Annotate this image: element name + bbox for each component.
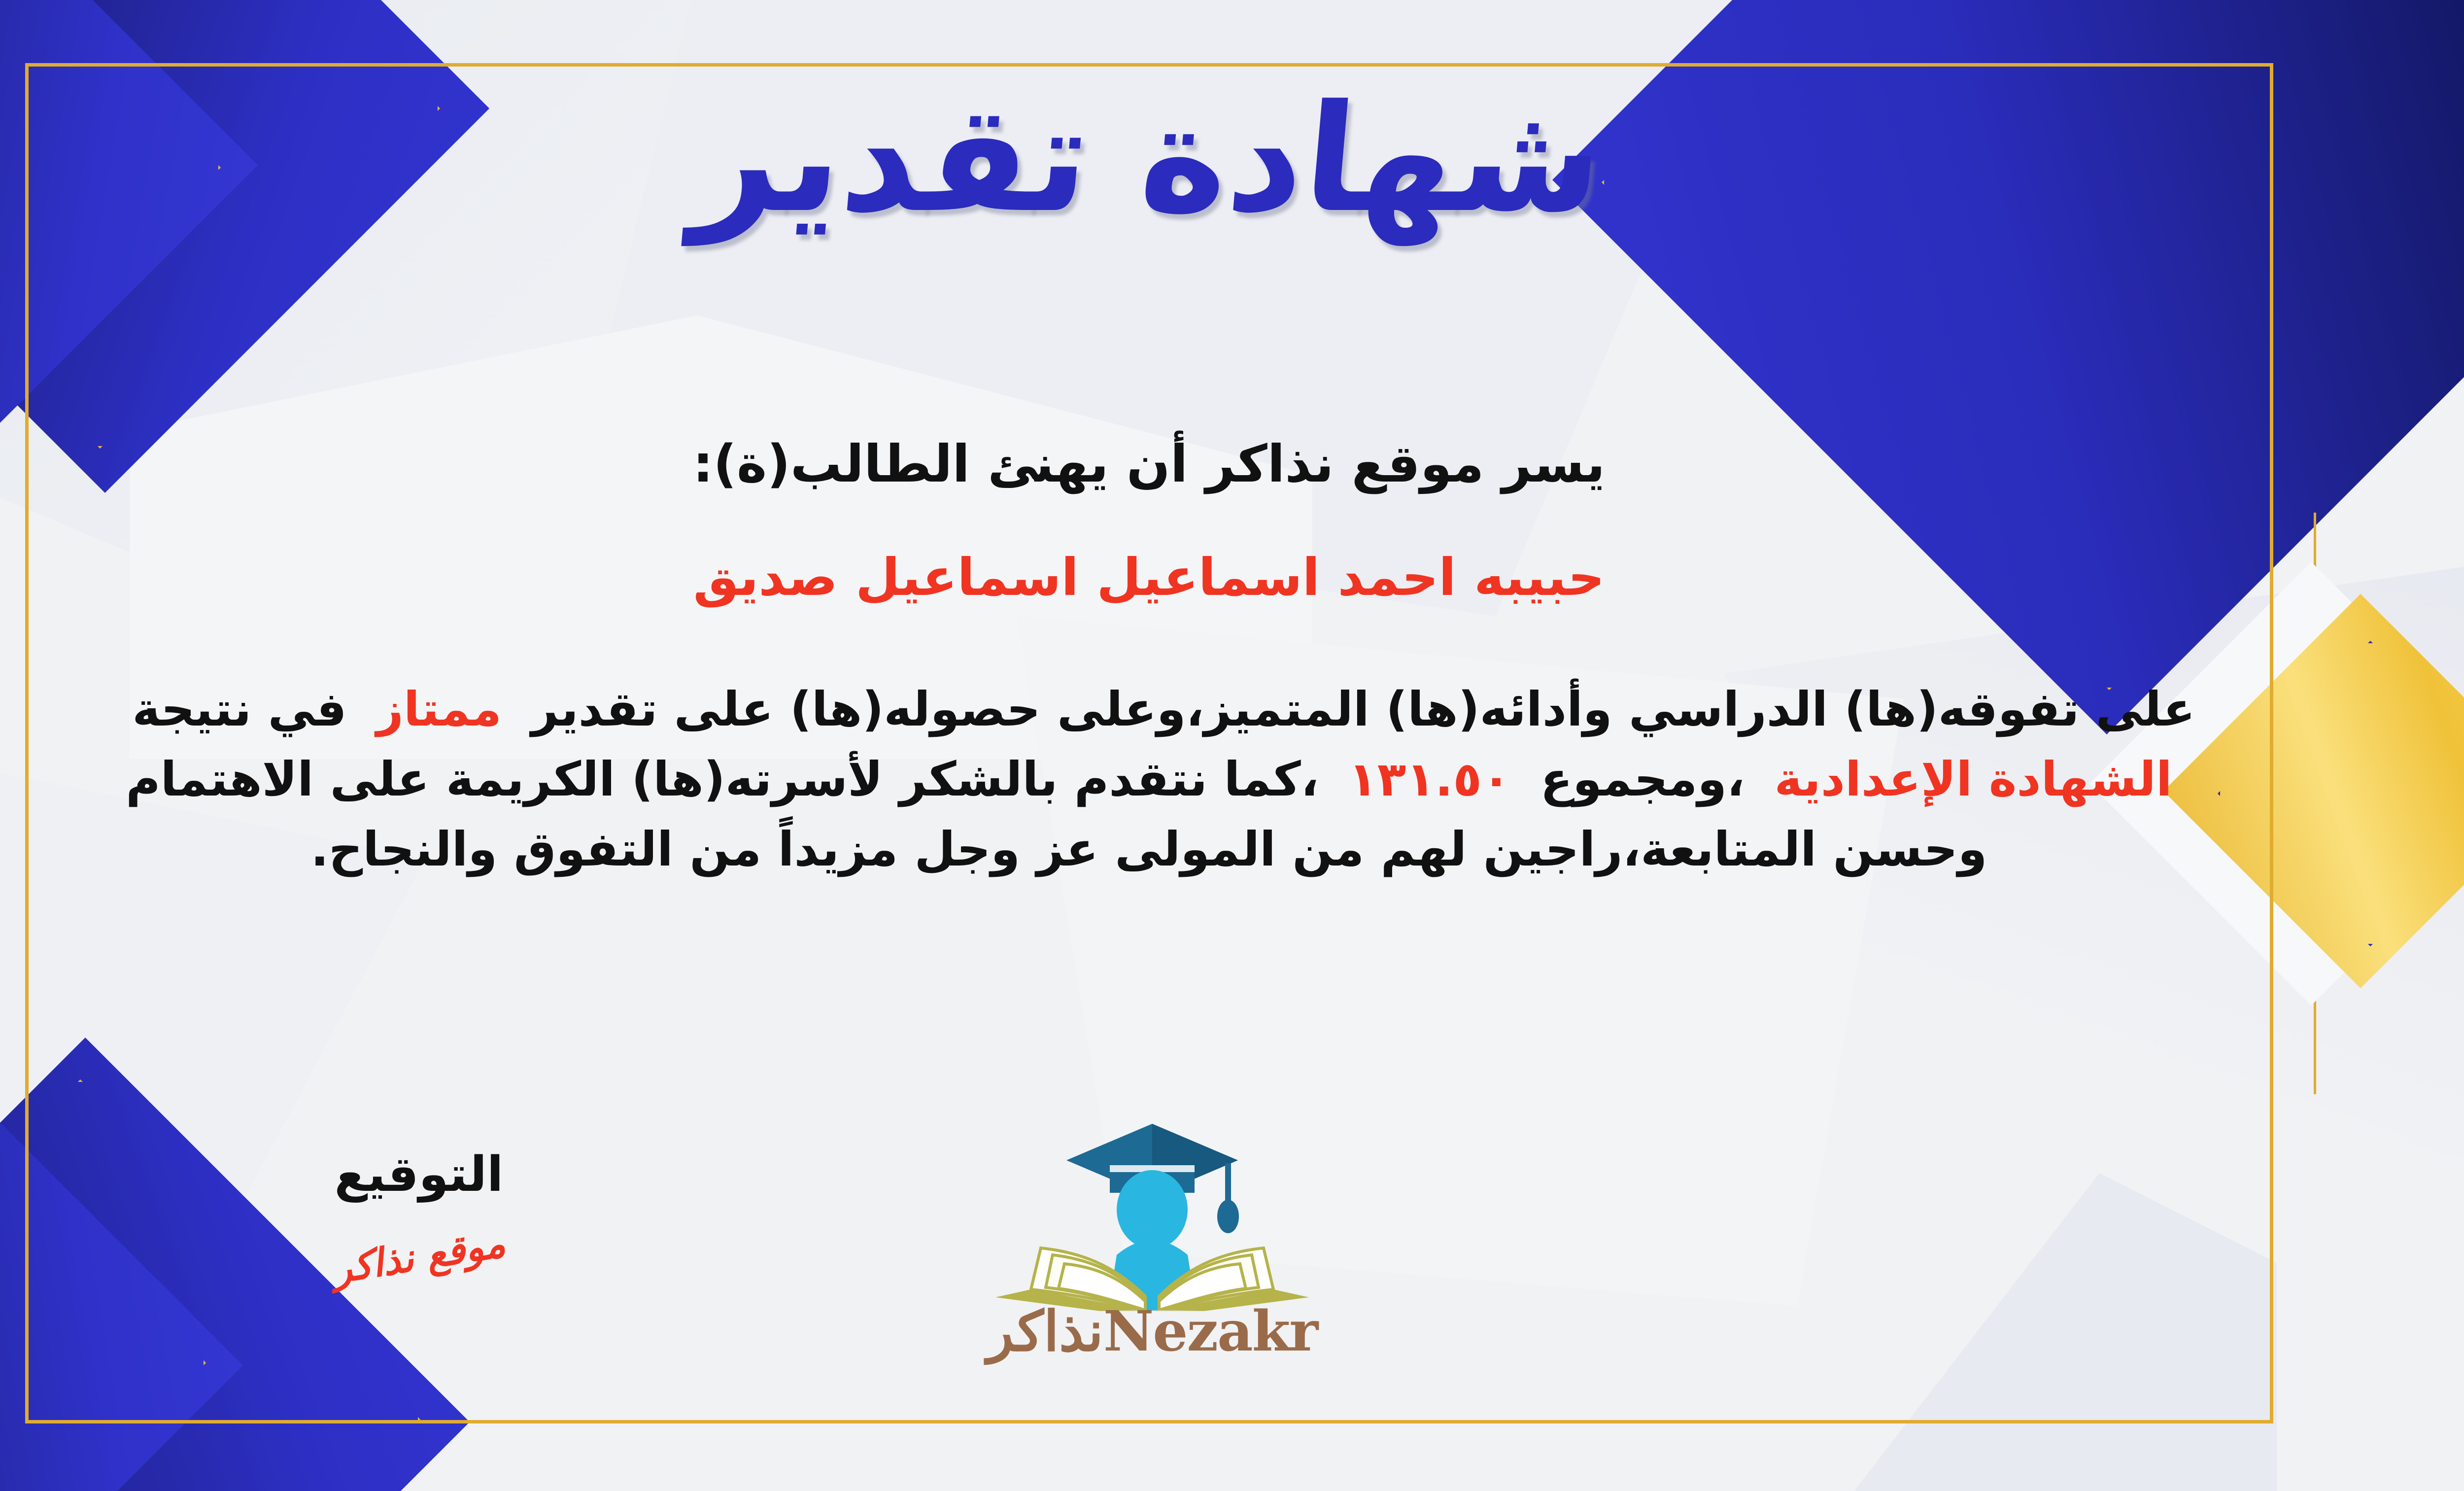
signature-block: التوقيع موقع نذاكر: [246, 1148, 591, 1279]
exam-name: الشهادة الإعدادية: [1774, 752, 2172, 807]
logo-wordmark: Nezakrنذاكر: [970, 1304, 1335, 1359]
greeting-line: يسر موقع نذاكر أن يهنئ الطالب(ة):: [0, 434, 2464, 494]
certificate-content: شهادة تقدير يسر موقع نذاكر أن يهنئ الطال…: [0, 0, 2464, 1491]
certificate-page: شهادة تقدير يسر موقع نذاكر أن يهنئ الطال…: [0, 0, 2464, 1491]
student-name: حبيبه احمد اسماعيل اسماعيل صديق: [0, 547, 2464, 607]
body-segment-2: في نتيجة: [132, 682, 346, 737]
total-score: ١٣١.٥٠: [1348, 752, 1510, 807]
signature-label: التوقيع: [246, 1148, 591, 1202]
graduate-book-logo-icon: [970, 1114, 1335, 1311]
body-segment-1: على تفوقه(ها) الدراسي وأدائه(ها) المتميز…: [531, 682, 2195, 737]
certificate-body: على تفوقه(ها) الدراسي وأدائه(ها) المتميز…: [46, 674, 2252, 884]
certificate-title: شهادة تقدير: [0, 67, 2464, 251]
grade-value: ممتاز: [376, 682, 502, 737]
body-segment-3: ،ومجموع: [1540, 752, 1745, 807]
signature-mark: موقع نذاكر: [245, 1208, 593, 1306]
site-logo: Nezakrنذاكر: [970, 1114, 1335, 1359]
